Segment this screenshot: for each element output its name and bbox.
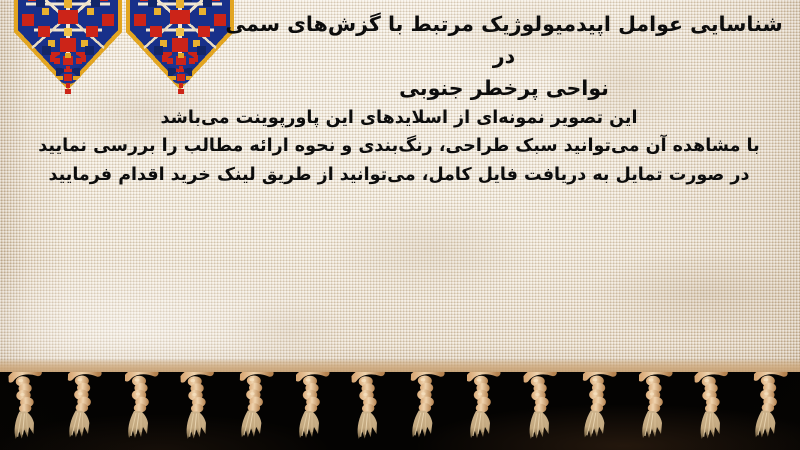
slide-body-line-2: با مشاهده آن می‌توانید سبک طراحی، رنگ‌بن… <box>13 132 785 160</box>
carpet-fringe-area <box>0 372 800 450</box>
fringe-tassel <box>752 372 799 443</box>
fringe-tassel <box>639 372 683 442</box>
slide-title-line-1: شناسایی عوامل اپیدمیولوژیک مرتبط با گزش‌… <box>223 9 785 73</box>
fringe-tassel <box>580 372 627 443</box>
slide-body-text: این تصویر نمونه‌ای از اسلایدهای این پاور… <box>13 104 785 189</box>
fringe-tassel <box>409 372 456 443</box>
slide-body-line-3: در صورت تمایل به دریافت فایل کامل، می‌تو… <box>13 161 785 189</box>
fringe-tassel <box>125 372 169 442</box>
fringe-tassel <box>180 372 228 443</box>
fringe-tassel <box>467 372 511 442</box>
fringe-tassel <box>8 372 56 443</box>
fringe-tassel <box>351 372 399 443</box>
fringe-tassel <box>523 372 571 443</box>
fringe-tassel <box>238 372 285 443</box>
powerpoint-slide-preview: شناسایی عوامل اپیدمیولوژیک مرتبط با گزش‌… <box>0 0 800 450</box>
slide-title-line-2: نواحی پرخطر جنوبی <box>223 73 785 105</box>
slide-body-line-1: این تصویر نمونه‌ای از اسلایدهای این پاور… <box>13 104 785 132</box>
fringe-tassel <box>296 372 340 442</box>
fringe-tassel <box>694 372 742 443</box>
slide-title: شناسایی عوامل اپیدمیولوژیک مرتبط با گزش‌… <box>223 9 785 104</box>
slide-text-area: شناسایی عوامل اپیدمیولوژیک مرتبط با گزش‌… <box>0 0 800 376</box>
fringe-tassel <box>66 372 113 443</box>
